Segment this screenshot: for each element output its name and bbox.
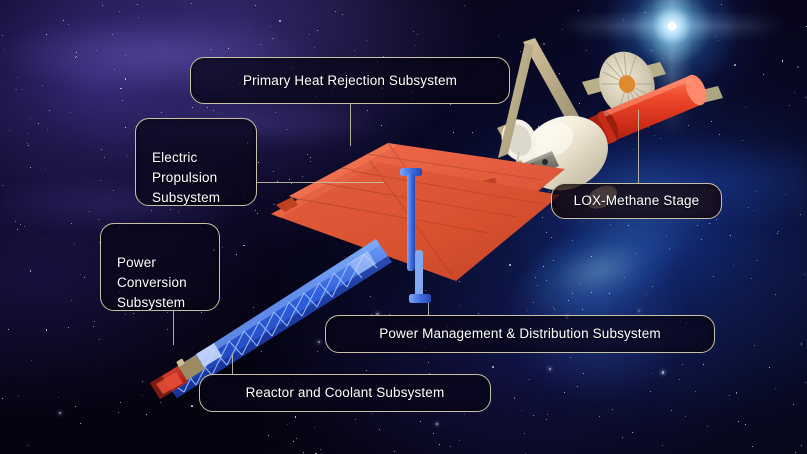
callout-primary-heat-rejection[interactable]: Primary Heat Rejection Subsystem xyxy=(190,57,510,104)
callout-power-conversion[interactable]: Power Conversion Subsystem xyxy=(100,223,220,311)
leader-line-lox-stage xyxy=(638,110,639,183)
callout-label-text: Reactor and Coolant Subsystem xyxy=(246,383,445,403)
leader-line-heat-rejection xyxy=(350,104,351,146)
callout-reactor-coolant[interactable]: Reactor and Coolant Subsystem xyxy=(199,374,491,412)
callout-label-text: Electric Propulsion Subsystem xyxy=(152,150,220,205)
leader-line-power-conversion xyxy=(173,311,174,345)
leader-line-pmad xyxy=(428,303,429,315)
callout-lox-methane-stage[interactable]: LOX-Methane Stage xyxy=(551,183,722,219)
spacecraft-diagram-scene: ハヤブサ xyxy=(0,0,807,454)
callout-label-text: Power Conversion Subsystem xyxy=(117,255,187,310)
callout-label-text: LOX-Methane Stage xyxy=(574,191,700,211)
leader-line-reactor xyxy=(232,355,233,374)
callout-label-text: Primary Heat Rejection Subsystem xyxy=(243,71,457,91)
callout-electric-propulsion[interactable]: Electric Propulsion Subsystem xyxy=(135,118,257,206)
callout-label-text: Power Management & Distribution Subsyste… xyxy=(379,324,661,344)
callout-power-management-distribution[interactable]: Power Management & Distribution Subsyste… xyxy=(325,315,715,353)
leader-line-electric-propulsion xyxy=(257,182,384,183)
